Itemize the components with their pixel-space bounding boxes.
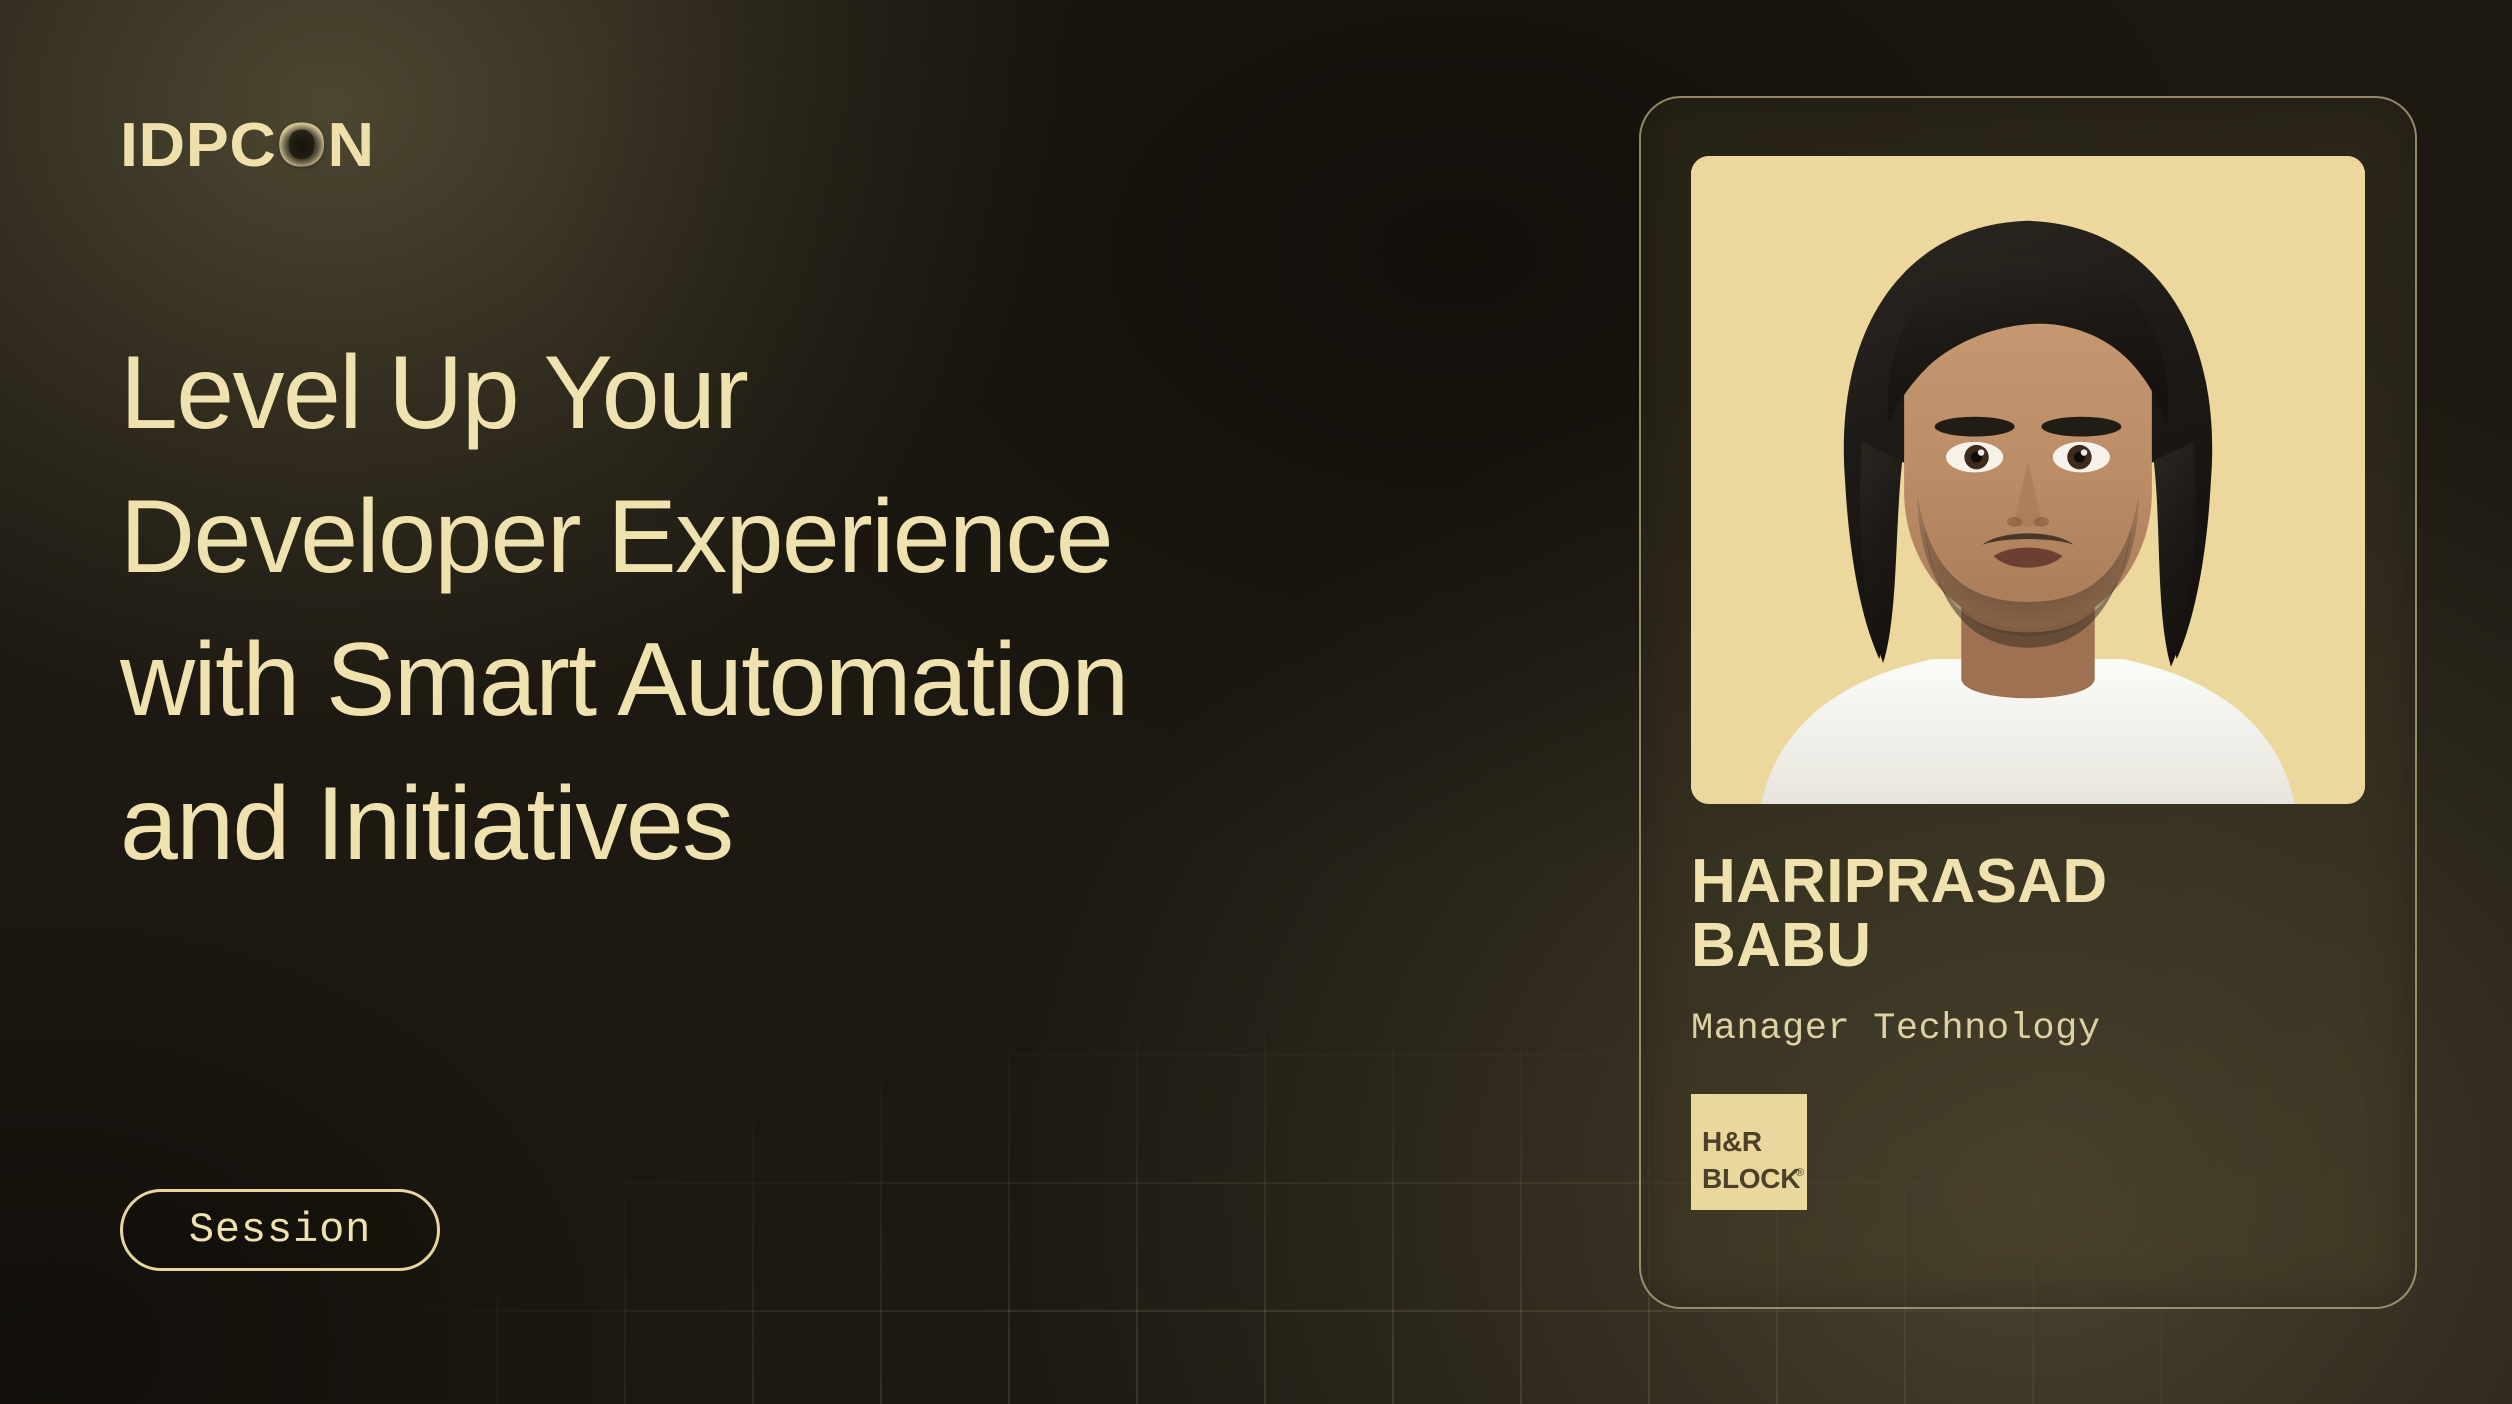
- speaker-role: Manager Technology: [1691, 1008, 2365, 1050]
- logo-o-glyph: O: [277, 110, 328, 181]
- session-slide: IDPCON Level Up Your Developer Experienc…: [0, 0, 2512, 1404]
- session-title: Level Up Your Developer Experience with …: [120, 322, 1540, 896]
- session-title-line-4: and Initiatives: [120, 753, 1540, 897]
- session-title-line-1: Level Up Your: [120, 322, 1540, 466]
- speaker-card: HARIPRASAD BABU Manager Technology H&R B…: [1639, 96, 2417, 1309]
- brand-logo: IDPCON: [120, 110, 375, 181]
- speaker-photo: [1691, 156, 2365, 804]
- company-logo-line-1: H&R: [1702, 1128, 1762, 1156]
- trademark-icon: ®: [1796, 1168, 1804, 1179]
- brand-logo-text: IDPCON: [120, 111, 375, 180]
- company-logo-hr-block: H&R BLOCK ®: [1691, 1094, 1807, 1210]
- speaker-name-line-2: BABU: [1691, 914, 2365, 978]
- session-type-badge[interactable]: Session: [120, 1189, 440, 1271]
- session-title-line-2: Developer Experience: [120, 466, 1540, 610]
- speaker-portrait-illustration: [1691, 156, 2365, 804]
- speaker-name: HARIPRASAD BABU: [1691, 850, 2365, 978]
- company-logo-line-2: BLOCK: [1702, 1165, 1800, 1193]
- session-type-badge-label: Session: [189, 1206, 371, 1254]
- session-title-line-3: with Smart Automation: [120, 609, 1540, 753]
- speaker-name-line-1: HARIPRASAD: [1691, 850, 2365, 914]
